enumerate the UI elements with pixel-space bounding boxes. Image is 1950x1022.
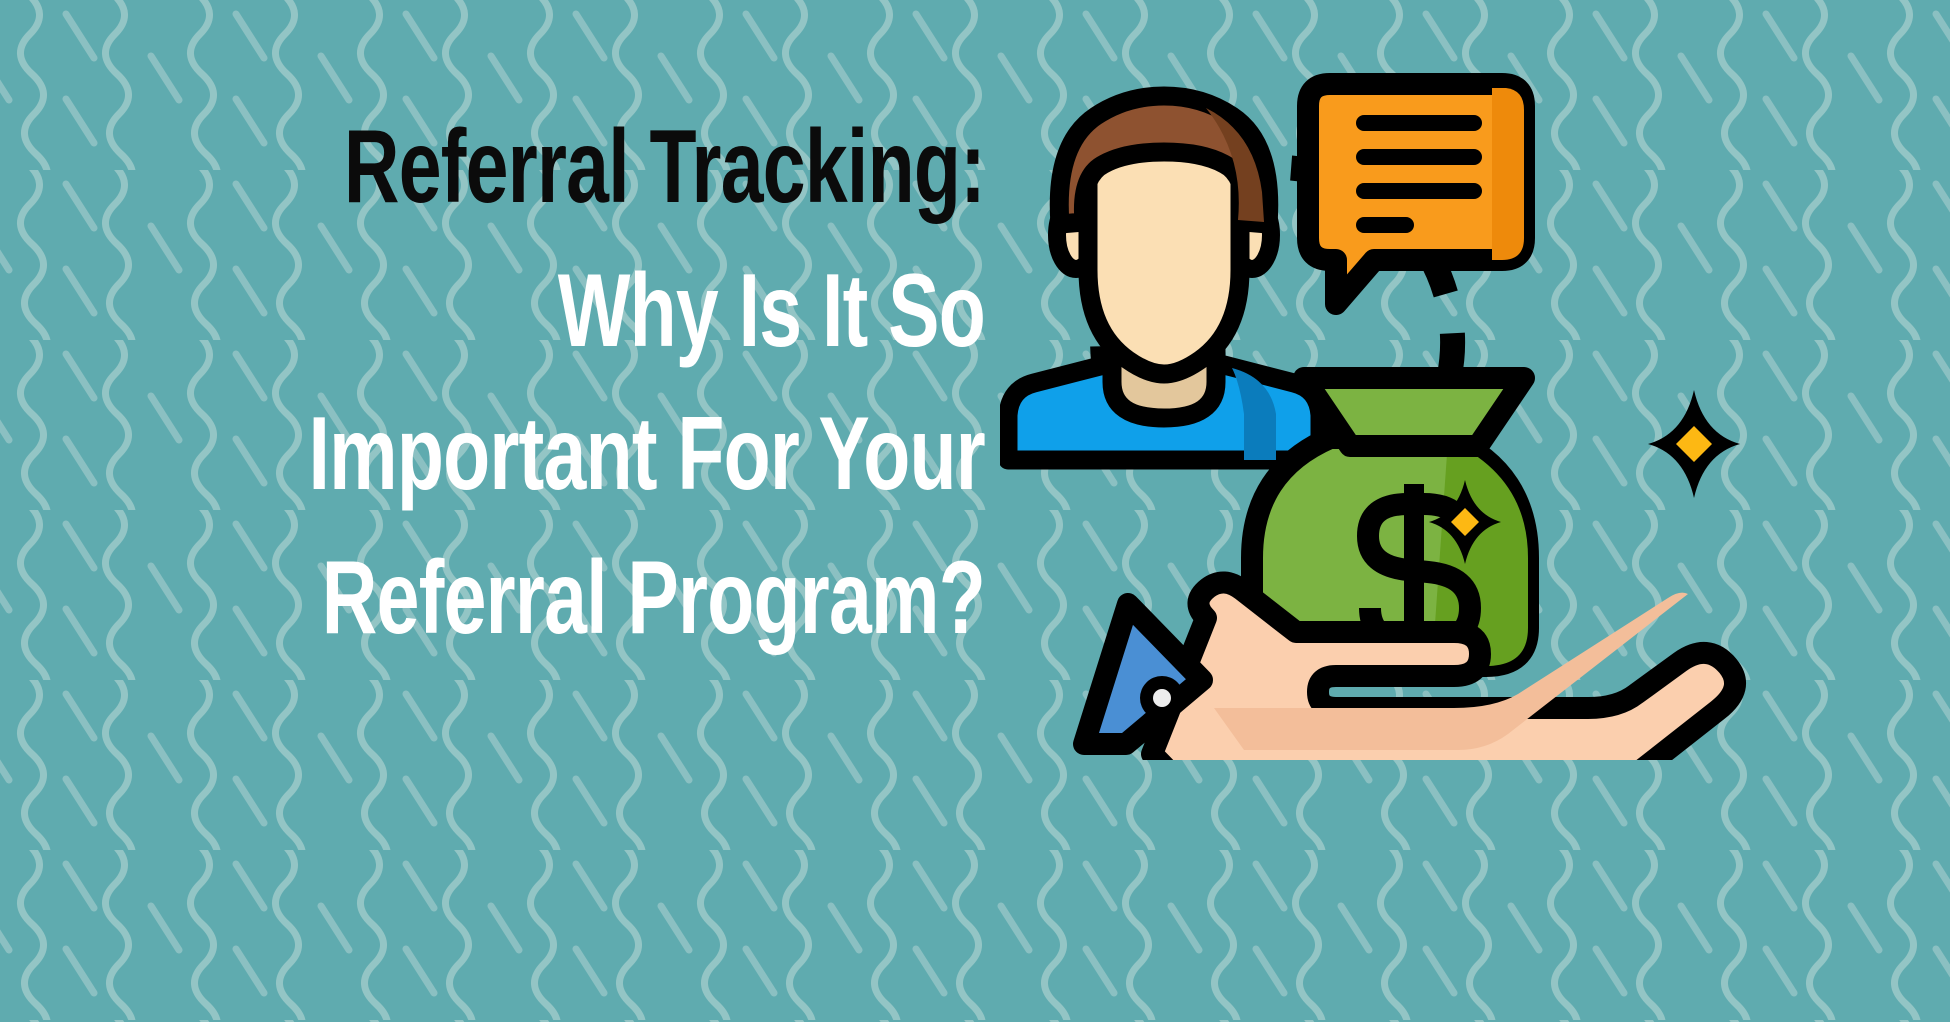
headline-line-1: Referral Tracking: — [301, 96, 986, 240]
cuff-button — [1153, 689, 1171, 707]
headline-line-4: Referral Program? — [301, 527, 986, 671]
speech-bubble — [1308, 84, 1524, 304]
headline-line-3: Important For Your — [301, 383, 986, 527]
bubble-text-line-1 — [1356, 115, 1482, 131]
referral-reward-illustration: $ — [1000, 60, 1930, 760]
headline-line-2: Why Is It So — [301, 240, 986, 384]
sparkle-large — [1648, 390, 1740, 498]
bubble-text-line-2 — [1356, 149, 1482, 165]
person-avatar — [1008, 96, 1320, 460]
headline-block: Referral Tracking: Why Is It So Importan… — [60, 96, 985, 670]
speech-bubble-shadow — [1492, 88, 1524, 260]
bubble-text-line-4 — [1356, 217, 1414, 233]
money-bag-tie — [1304, 378, 1524, 446]
bubble-text-line-3 — [1356, 183, 1482, 199]
referral-tracking-banner: Referral Tracking: Why Is It So Importan… — [0, 0, 1950, 1022]
